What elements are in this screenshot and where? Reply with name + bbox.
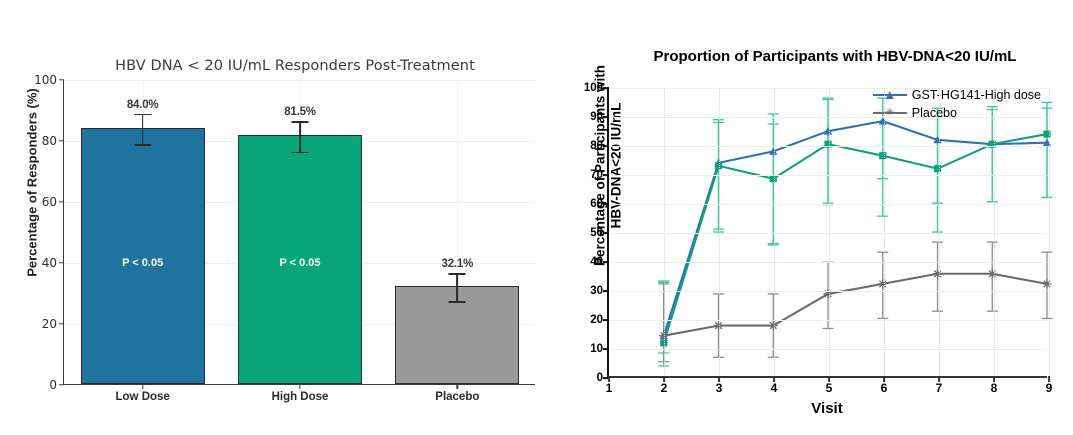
bar-y-tick-mark	[59, 201, 64, 202]
line-x-tick-label: 3	[716, 381, 723, 395]
bar-y-tick-mark	[59, 262, 64, 263]
bar-chart-plot-area: 02040608010084.0%P < 0.05Low Dose81.5%P …	[63, 80, 535, 385]
line-y-tick-label: 40	[590, 256, 603, 268]
bar-y-tick-mark	[59, 79, 64, 80]
bar-y-tick-label: 60	[42, 195, 57, 209]
line-chart-y-axis-label-line1: Percentage of Participants with	[592, 16, 608, 316]
line-x-tick-label: 9	[1046, 381, 1053, 395]
line-gridline-vertical	[939, 88, 941, 376]
legend-item-placebo[interactable]: ✳Placebo	[873, 104, 1041, 122]
line-gridline	[609, 88, 1047, 89]
bar-y-tick-mark	[59, 384, 64, 385]
bar-category-label: Placebo	[435, 391, 479, 403]
bar-error-bar-cap	[134, 114, 151, 116]
line-chart-series-svg	[609, 88, 1047, 376]
bar-chart-panel: HBV DNA < 20 IU/mL Responders Post-Treat…	[0, 0, 552, 435]
bar-value-label: 32.1%	[442, 258, 474, 270]
line-x-tick-label: 6	[881, 381, 888, 395]
line-y-tick-mark	[603, 232, 609, 234]
line-gridline	[609, 262, 1047, 263]
line-y-tick-label: 70	[590, 169, 603, 181]
line-y-tick-label: 60	[590, 198, 603, 210]
line-gridline	[609, 320, 1047, 321]
line-gridline	[609, 146, 1047, 147]
legend-label: Placebo	[912, 104, 957, 122]
bar-error-bar	[456, 273, 458, 300]
line-gridline	[609, 117, 1047, 118]
line-y-tick-label: 50	[590, 227, 603, 239]
line-gridline-vertical	[829, 88, 831, 376]
bar-error-bar-cap	[292, 152, 309, 154]
line-y-tick-label: 100	[584, 82, 603, 94]
line-y-tick-label: 90	[590, 111, 603, 123]
bar-y-tick-mark	[59, 140, 64, 141]
bar-category-label: High Dose	[272, 391, 329, 403]
two-panel-figure: HBV DNA < 20 IU/mL Responders Post-Treat…	[0, 0, 1073, 435]
line-y-tick-label: 10	[590, 343, 603, 355]
line-y-tick-mark	[603, 348, 609, 350]
bar-y-tick-label: 0	[49, 378, 57, 392]
line-gridline	[609, 349, 1047, 350]
bar-error-bar-cap	[292, 121, 309, 123]
line-x-tick-label: 8	[991, 381, 998, 395]
line-gridline-vertical	[774, 88, 776, 376]
line-y-tick-mark	[603, 290, 609, 292]
line-y-tick-mark	[603, 174, 609, 176]
line-gridline-vertical	[994, 88, 996, 376]
bar-x-tick-mark	[142, 384, 143, 389]
bar-y-tick-label: 20	[42, 317, 57, 331]
line-gridline-vertical	[719, 88, 721, 376]
bar-y-tick-mark	[59, 323, 64, 324]
bar-category-label: Low Dose	[116, 391, 170, 403]
line-gridline	[609, 291, 1047, 292]
line-chart-title: Proportion of Participants with HBV-DNA<…	[600, 48, 1070, 65]
bar-value-label: 81.5%	[284, 106, 316, 118]
bar-pvalue-annotation: P < 0.05	[279, 257, 320, 269]
line-gridline-vertical	[884, 88, 886, 376]
bar-low-dose[interactable]	[81, 128, 205, 384]
bar-x-tick-mark	[457, 384, 458, 389]
bar-y-tick-label: 100	[34, 73, 57, 87]
line-x-tick-label: 5	[826, 381, 833, 395]
bar-error-bar-cap	[449, 273, 466, 275]
line-chart-plot-area: GST-HG141-High dose✳Placebo 010203040506…	[607, 88, 1047, 378]
line-x-tick-label: 2	[661, 381, 668, 395]
line-gridline	[609, 204, 1047, 205]
bar-error-bar-cap	[449, 301, 466, 303]
line-y-tick-label: 80	[590, 140, 603, 152]
line-y-tick-mark	[603, 203, 609, 205]
bar-pvalue-annotation: P < 0.05	[122, 257, 163, 269]
line-chart-panel: Proportion of Participants with HBV-DNA<…	[552, 0, 1073, 435]
line-y-tick-mark	[603, 145, 609, 147]
bar-chart-title: HBV DNA < 20 IU/mL Responders Post-Treat…	[55, 58, 535, 74]
line-gridline	[609, 175, 1047, 176]
bar-error-bar	[142, 114, 144, 145]
line-gridline-vertical	[664, 88, 666, 376]
line-y-tick-label: 0	[597, 372, 603, 384]
line-y-tick-mark	[603, 261, 609, 263]
line-x-tick-label: 1	[606, 381, 613, 395]
bar-error-bar	[299, 121, 301, 152]
line-gridline	[609, 233, 1047, 234]
line-y-tick-label: 20	[590, 314, 603, 326]
line-chart-x-axis-label: Visit	[607, 400, 1047, 417]
line-x-tick-label: 7	[936, 381, 943, 395]
bar-y-tick-label: 40	[42, 256, 57, 270]
line-y-tick-mark	[603, 319, 609, 321]
legend-swatch-icon	[873, 89, 907, 101]
bar-error-bar-cap	[134, 144, 151, 146]
line-y-tick-mark	[603, 116, 609, 118]
bar-chart-y-axis-label: Percentage of Responders (%)	[25, 53, 40, 313]
line-gridline-vertical	[1049, 88, 1051, 376]
line-x-tick-label: 4	[771, 381, 778, 395]
line-y-tick-label: 30	[590, 285, 603, 297]
bar-value-label: 84.0%	[127, 99, 159, 111]
bar-y-tick-label: 80	[42, 134, 57, 148]
line-y-tick-mark	[603, 87, 609, 89]
bar-x-tick-mark	[299, 384, 300, 389]
